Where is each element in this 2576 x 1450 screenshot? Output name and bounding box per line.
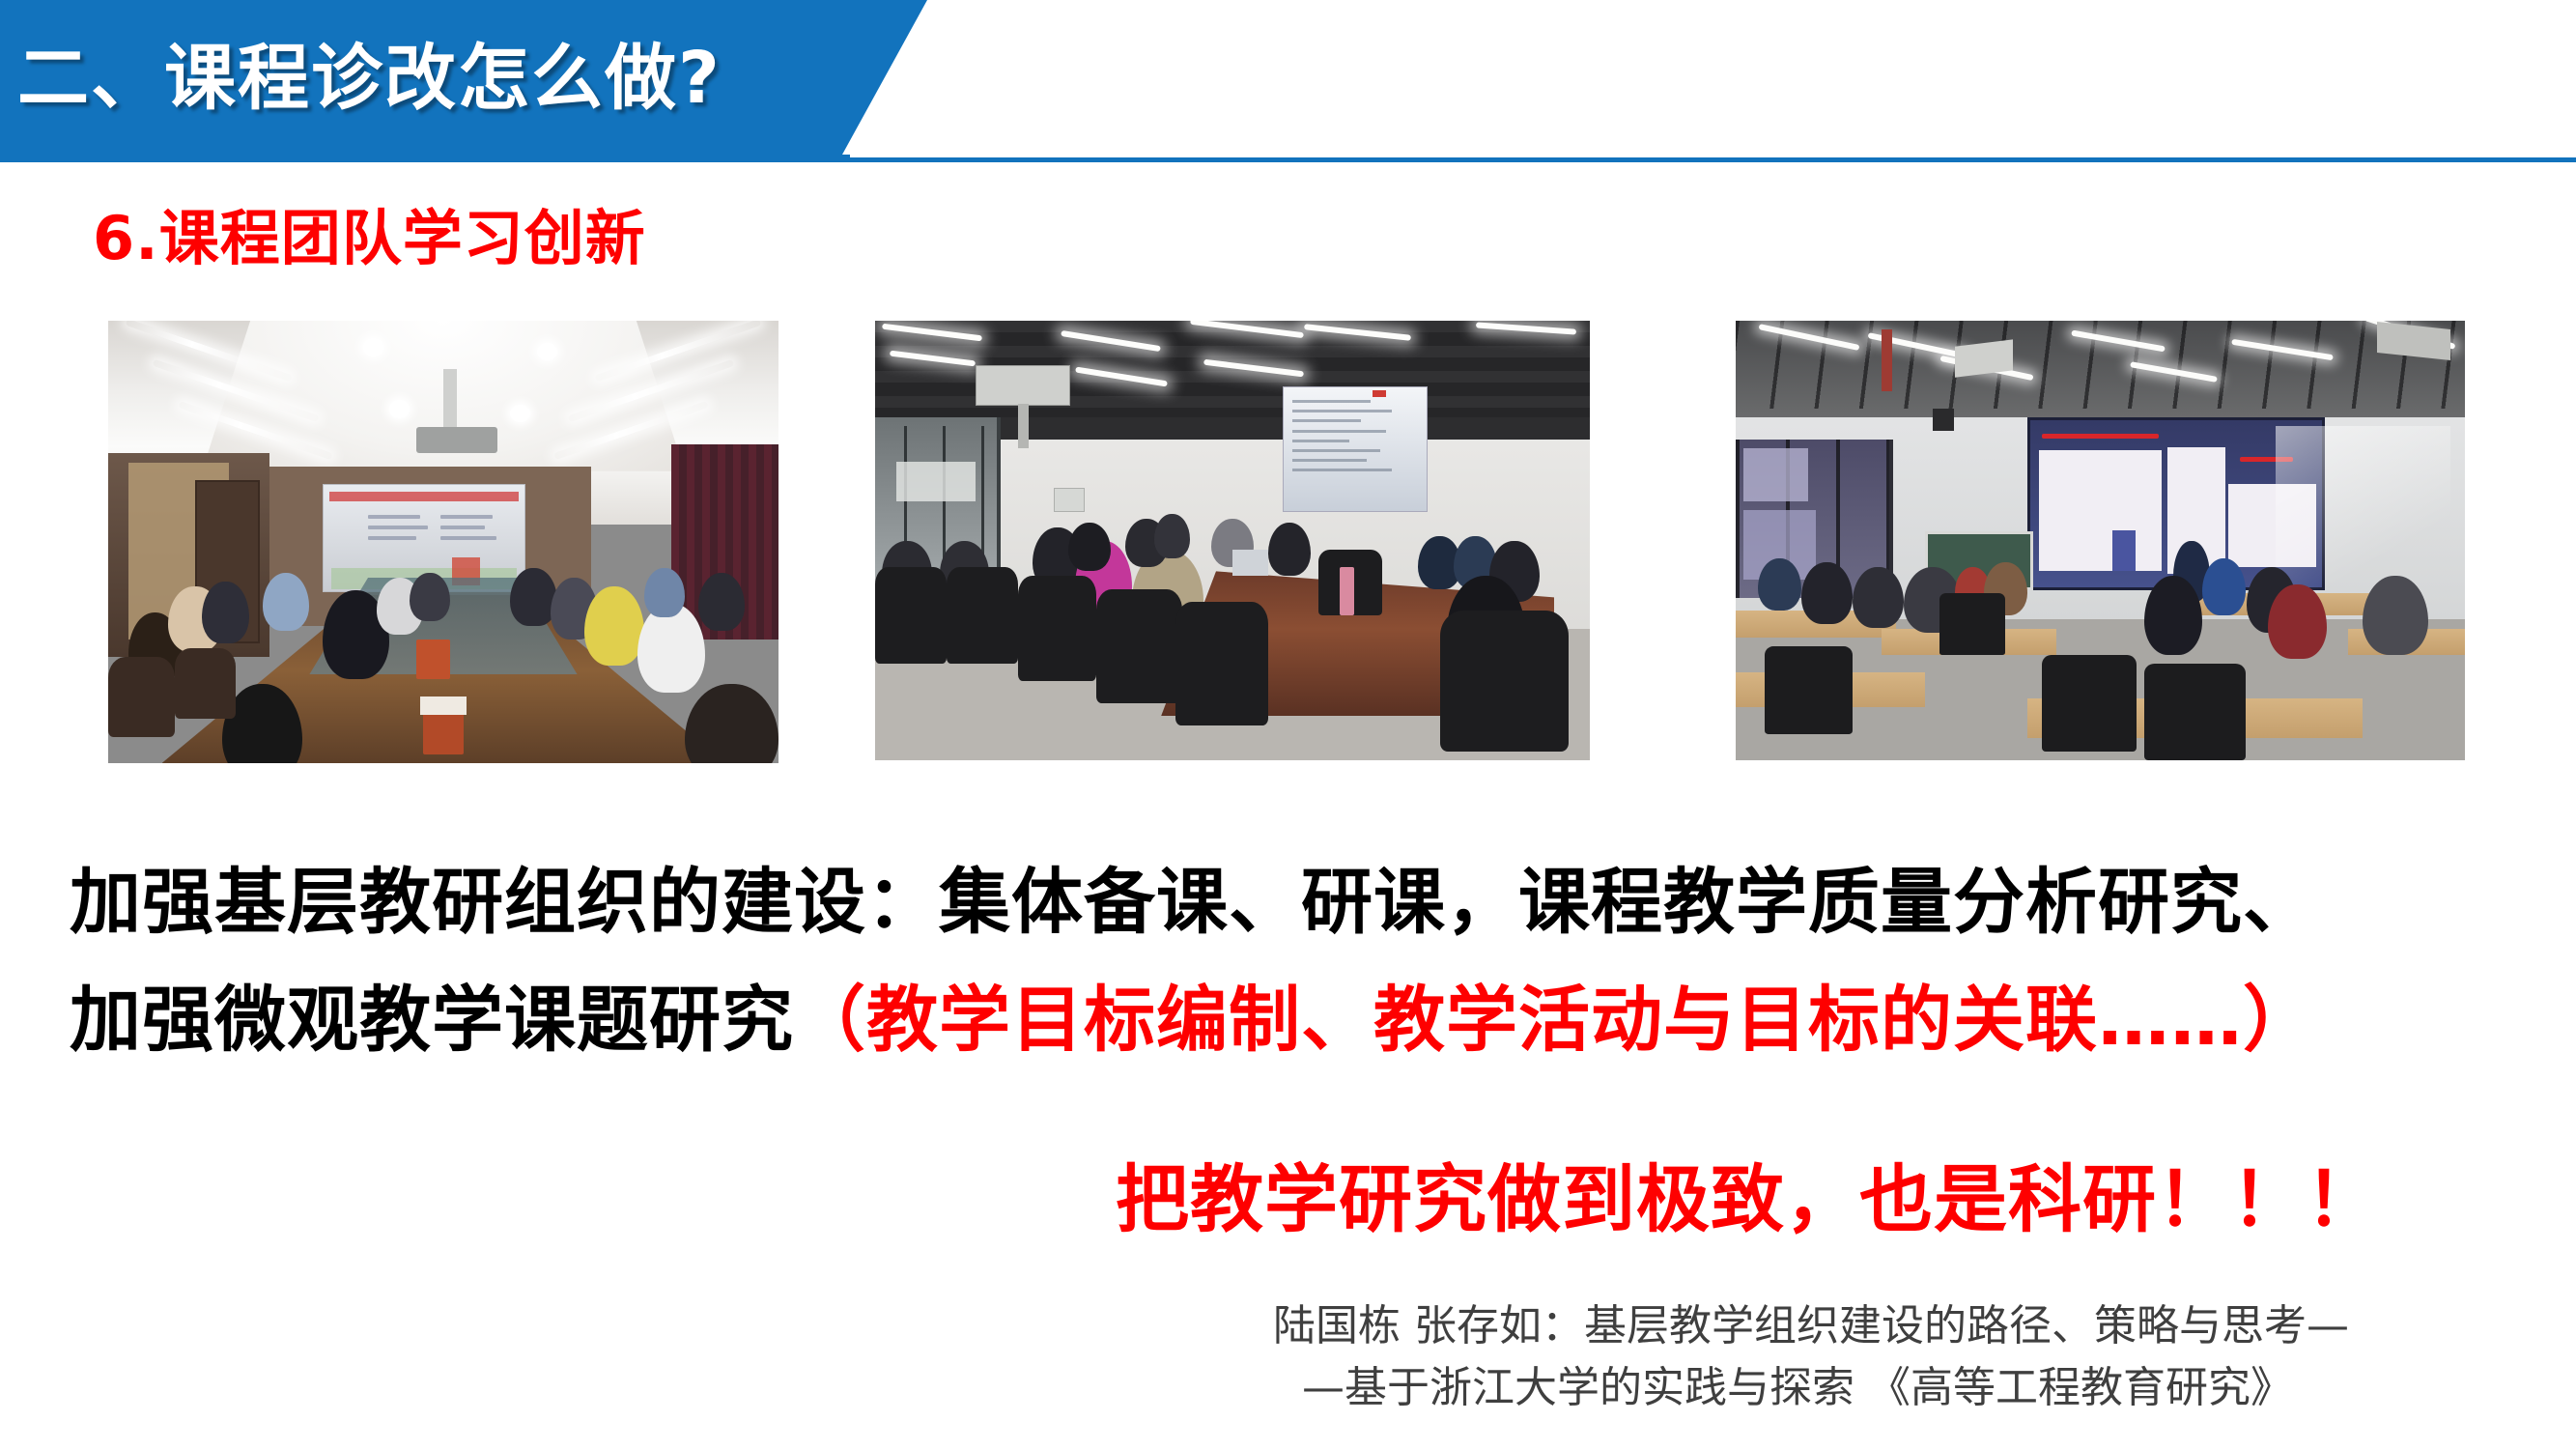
body-line-1: 加强基层教研组织的建设：集体备课、研课，课程教学质量分析研究、	[70, 844, 2315, 948]
body-line-2: 加强微观教学课题研究（教学目标编制、教学活动与目标的关联……）	[70, 962, 2315, 1066]
photo-classroom-big-screen	[1736, 321, 2465, 760]
banner-underline-rule	[0, 157, 2576, 162]
tagline-emphasis: 把教学研究做到极致，也是科研！！！	[1116, 1140, 2380, 1246]
section-subheading: 6.课程团队学习创新	[93, 189, 646, 276]
citation-line-2: —基于浙江大学的实践与探索 《高等工程教育研究》	[1302, 1352, 2293, 1414]
photo-meeting-room-wood-table	[108, 321, 778, 763]
photo-meeting-room-dark-ceiling	[875, 321, 1590, 760]
body-line-2-red: （教学目标编制、教学活动与目标的关联……）	[794, 979, 2315, 1062]
citation-line-1: 陆国栋 张存如：基层教学组织建设的路径、策略与思考—	[1273, 1291, 2349, 1352]
slide-header-banner: 二、课程诊改怎么做?	[0, 0, 2576, 169]
page-title: 二、课程诊改怎么做?	[17, 14, 867, 129]
body-line-2-black: 加强微观教学课题研究	[70, 979, 794, 1062]
